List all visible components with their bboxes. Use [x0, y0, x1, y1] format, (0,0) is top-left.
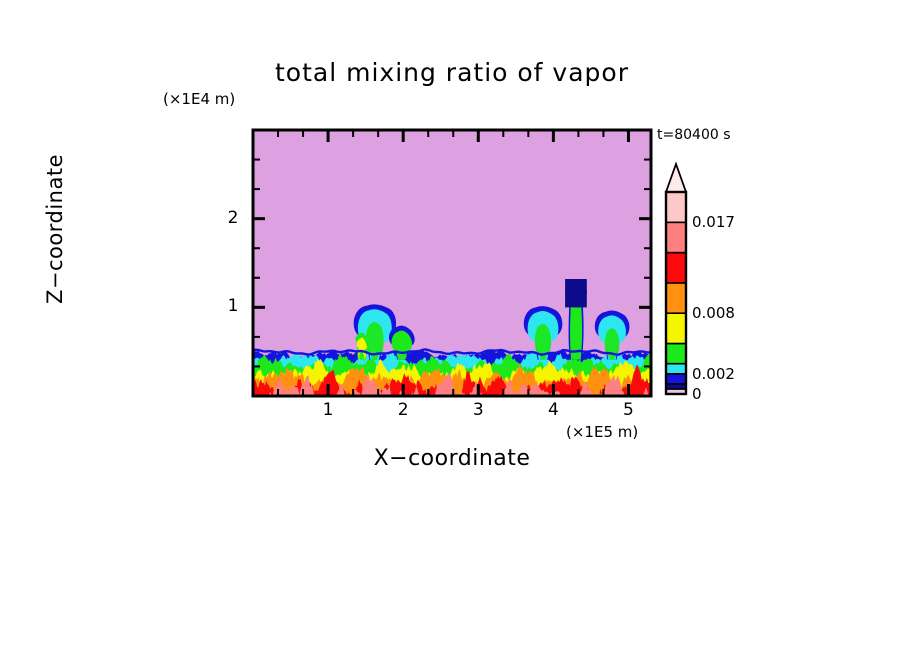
colorbar-label-3: 0: [692, 385, 702, 403]
x-tick-label-1: 1: [308, 400, 348, 420]
colorbar-band: [666, 283, 686, 313]
figure-canvas: total mixing ratio of vapor (×1E4 m) t=8…: [0, 0, 904, 654]
colorbar-band: [666, 313, 686, 343]
x-tick-label-2: 2: [383, 400, 423, 420]
colorbar-label-2: 0.002: [692, 365, 735, 383]
plume-cap-tip: [565, 279, 587, 307]
x-tick-label-4: 4: [533, 400, 573, 420]
x-tick-label-3: 3: [458, 400, 498, 420]
colorbar-band: [666, 253, 686, 283]
colorbar-band: [666, 364, 686, 374]
colorbar-band: [666, 374, 686, 384]
colorbar-band: [666, 222, 686, 252]
x-tick-label-5: 5: [608, 400, 648, 420]
colorbar-band: [666, 344, 686, 364]
y-tick-label-1: 1: [222, 296, 244, 316]
y-tick-label-2: 2: [222, 208, 244, 228]
colorbar-label-0: 0.017: [692, 213, 735, 231]
colorbar-band: [666, 192, 686, 222]
colorbar: [666, 164, 686, 394]
plot-svg: [0, 0, 904, 654]
contour-field: [253, 130, 651, 396]
colorbar-label-1: 0.008: [692, 304, 735, 322]
colorbar-arrow-cap: [666, 164, 686, 192]
